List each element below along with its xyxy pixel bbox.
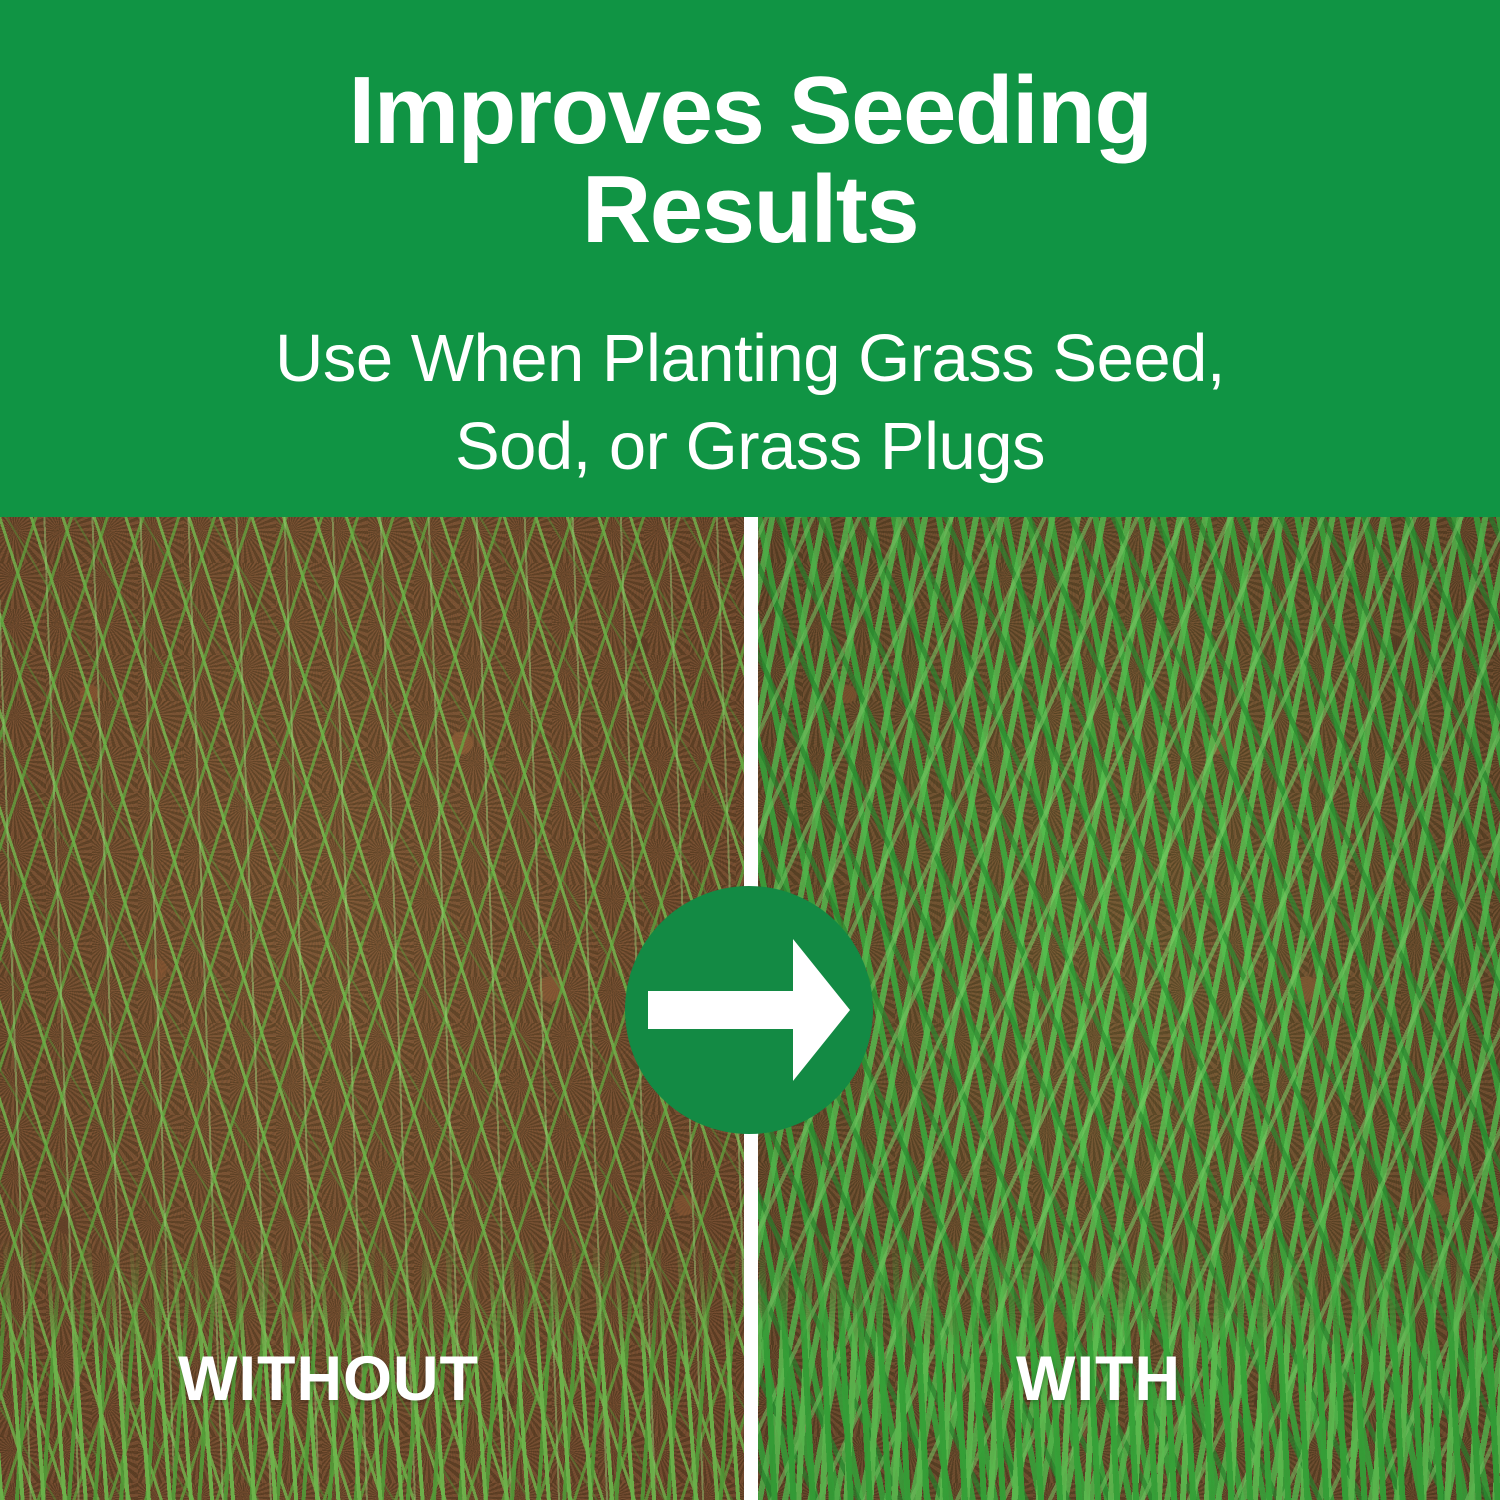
- page-title: Improves Seeding Results: [130, 62, 1370, 260]
- caption-with: WITH: [1016, 1348, 1181, 1411]
- page-subtitle: Use When Planting Grass Seed, Sod, or Gr…: [85, 315, 1415, 492]
- arrow-right-badge: [625, 886, 873, 1134]
- page-title-line-2: Results: [130, 161, 1370, 260]
- page-title-line-1: Improves Seeding: [130, 62, 1370, 161]
- arrow-right-icon: [644, 935, 854, 1085]
- caption-without: WITHOUT: [178, 1348, 479, 1411]
- page-subtitle-line-2: Sod, or Grass Plugs: [85, 403, 1415, 491]
- product-feature-infographic: Improves Seeding Results Use When Planti…: [0, 0, 1500, 1500]
- page-subtitle-line-1: Use When Planting Grass Seed,: [85, 315, 1415, 403]
- header-band: Improves Seeding Results Use When Planti…: [0, 0, 1500, 517]
